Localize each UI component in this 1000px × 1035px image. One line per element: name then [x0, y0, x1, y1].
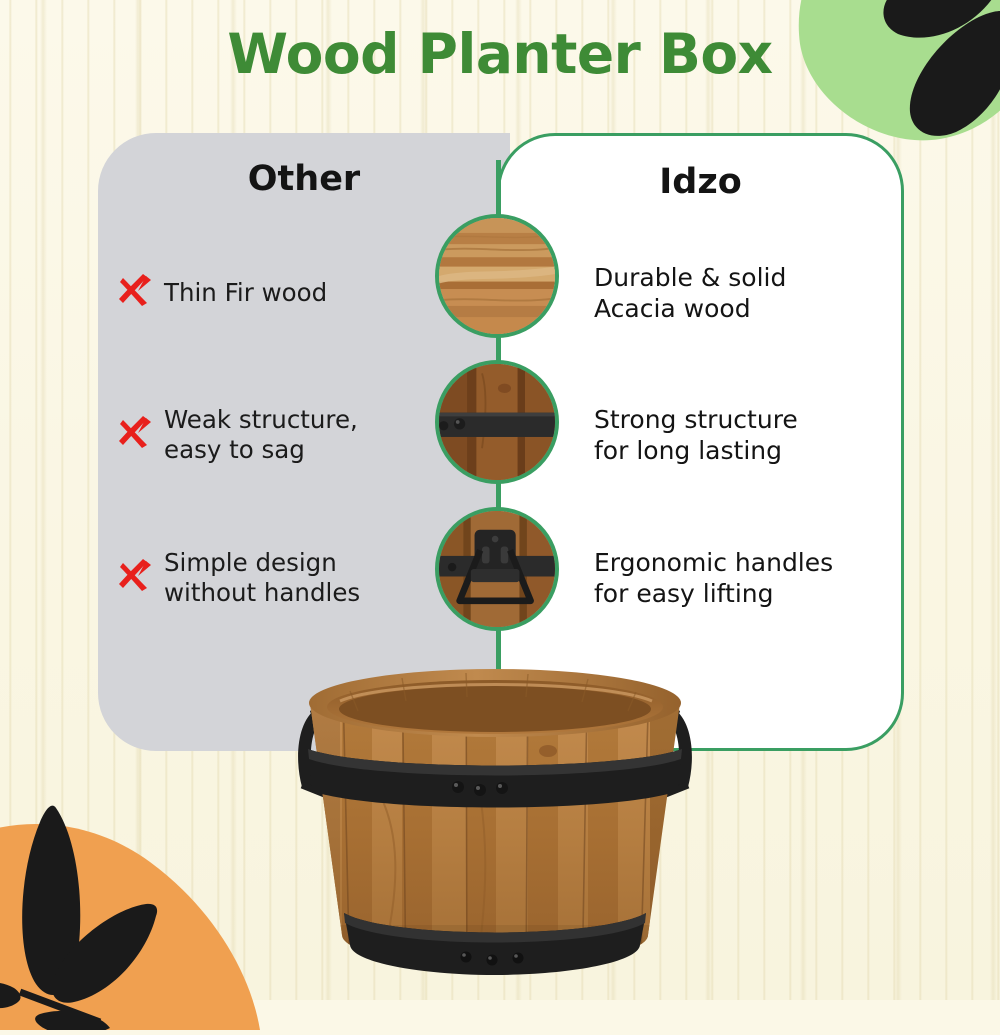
- idzo-row-3-text: Ergonomic handles for easy lifting: [594, 547, 833, 609]
- wood-planter-barrel-photo: [280, 645, 710, 990]
- idzo-row-3: Ergonomic handles for easy lifting: [594, 525, 924, 630]
- other-row-1-text: Thin Fir wood: [164, 278, 327, 308]
- idzo-row-2: Strong structure for long lasting: [594, 382, 924, 487]
- other-row-2-text: Weak structure, easy to sag: [164, 405, 358, 465]
- idzo-row-1: Durable & solid Acacia wood: [594, 240, 924, 345]
- other-row-2: Weak structure, easy to sag: [118, 382, 448, 487]
- column-heading-other: Other: [98, 159, 510, 199]
- idzo-row-2-text: Strong structure for long lasting: [594, 404, 798, 466]
- other-row-1: Thin Fir wood: [118, 240, 448, 345]
- page-title: Wood Planter Box: [0, 22, 1000, 86]
- red-cross-icon: [118, 415, 152, 454]
- acacia-wood-grain-closeup-image: [435, 214, 559, 338]
- red-cross-icon: [118, 558, 152, 597]
- planter-rim: [309, 669, 681, 737]
- metal-band-rivets-closeup-image: [435, 360, 559, 484]
- other-row-3-text: Simple design without handles: [164, 548, 360, 608]
- red-cross-icon: [118, 273, 152, 312]
- metal-handle-closeup-image: [435, 507, 559, 631]
- other-row-3: Simple design without handles: [118, 525, 448, 630]
- column-heading-idzo: Idzo: [500, 162, 901, 202]
- idzo-row-1-text: Durable & solid Acacia wood: [594, 262, 786, 324]
